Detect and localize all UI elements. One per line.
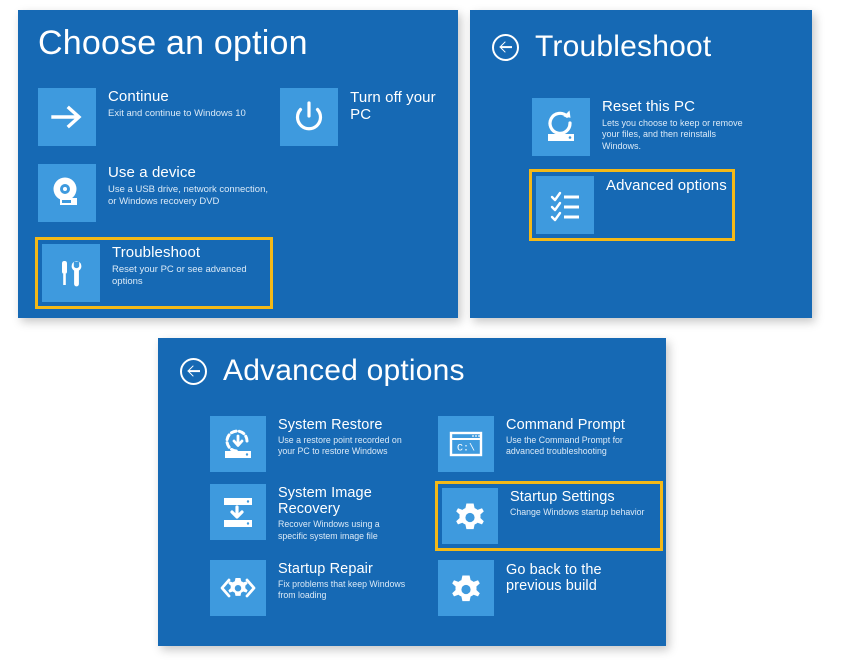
reset-pc-icon: [532, 98, 590, 156]
grid-cell: Startup Repair Fix problems that keep Wi…: [210, 560, 432, 616]
option-description: Reset your PC or see advanced options: [112, 264, 266, 288]
option-title: Command Prompt: [506, 417, 636, 433]
option-title: System Restore: [278, 417, 408, 433]
option-advanced-options[interactable]: Advanced options: [532, 172, 732, 238]
grid-cell: System Restore Use a restore point recor…: [210, 416, 432, 472]
option-text: Continue Exit and continue to Windows 10: [96, 88, 246, 120]
option-description: Use a restore point recorded on your PC …: [278, 435, 408, 458]
option-text: Startup Repair Fix problems that keep Wi…: [266, 560, 408, 602]
panel-advanced-options: Advanced options: [158, 338, 666, 646]
system-restore-icon: [210, 416, 266, 472]
option-text: Advanced options: [594, 176, 727, 195]
option-text: Use a device Use a USB drive, network co…: [96, 164, 268, 208]
option-reset-this-pc[interactable]: Reset this PC Lets you choose to keep or…: [532, 98, 802, 156]
options-list: Reset this PC Lets you choose to keep or…: [532, 98, 802, 238]
option-title: Turn off your PC: [350, 90, 458, 124]
option-command-prompt[interactable]: C:\ Command Prompt Use the Command Promp…: [438, 416, 660, 472]
option-system-image-recovery[interactable]: System Image Recovery Recover Windows us…: [210, 484, 432, 542]
option-startup-settings[interactable]: Startup Settings Change Windows startup …: [438, 484, 660, 548]
option-description-line2: or Windows recovery DVD: [108, 196, 268, 208]
startup-repair-icon: [210, 560, 266, 616]
grid-cell: Startup Settings Change Windows startup …: [438, 484, 660, 548]
option-title: Troubleshoot: [112, 245, 266, 262]
option-text: System Restore Use a restore point recor…: [266, 416, 408, 458]
option-text: Reset this PC Lets you choose to keep or…: [590, 98, 754, 152]
option-description: Change Windows startup behavior: [510, 507, 660, 518]
option-title: Advanced options: [606, 178, 727, 195]
option-go-back-previous-build[interactable]: Go back to the previous build: [438, 560, 660, 616]
system-image-icon: [210, 484, 266, 540]
options-row: Continue Exit and continue to Windows 10…: [38, 88, 458, 146]
option-description: Use the Command Prompt for advanced trou…: [506, 435, 636, 458]
tools-icon: [42, 244, 100, 302]
option-description: Fix problems that keep Windows from load…: [278, 579, 408, 602]
option-title: Reset this PC: [602, 99, 754, 116]
option-text: Troubleshoot Reset your PC or see advanc…: [100, 244, 266, 288]
grid-cell: System Image Recovery Recover Windows us…: [210, 484, 432, 548]
option-continue[interactable]: Continue Exit and continue to Windows 10: [38, 88, 266, 146]
back-arrow-icon[interactable]: [492, 34, 519, 61]
page-title: Advanced options: [223, 356, 465, 386]
option-description-line1: Use a USB drive, network connection,: [108, 184, 268, 196]
option-description: Lets you choose to keep or remove your f…: [602, 118, 754, 153]
option-use-a-device[interactable]: Use a device Use a USB drive, network co…: [38, 164, 458, 222]
option-turn-off-your-pc[interactable]: Turn off your PC: [280, 88, 458, 146]
option-text: Go back to the previous build: [494, 560, 626, 594]
option-text: Turn off your PC: [338, 88, 458, 124]
panel-troubleshoot: Troubleshoot Reset this PC Lets you choo…: [470, 10, 812, 318]
option-startup-repair[interactable]: Startup Repair Fix problems that keep Wi…: [210, 560, 432, 616]
checklist-icon: [536, 176, 594, 234]
page-title: Choose an option: [38, 26, 308, 60]
option-title: System Image Recovery: [278, 485, 432, 517]
option-title: Startup Settings: [510, 489, 660, 505]
gear-icon: [438, 560, 494, 616]
gear-icon: [442, 488, 498, 544]
disc-usb-icon: [38, 164, 96, 222]
panel-header: Choose an option: [18, 10, 458, 60]
option-system-restore[interactable]: System Restore Use a restore point recor…: [210, 416, 432, 472]
screenshot-stage: Choose an option Continue Exit and conti…: [0, 0, 844, 665]
grid-cell: C:\ Command Prompt Use the Command Promp…: [438, 416, 660, 472]
option-troubleshoot[interactable]: Troubleshoot Reset your PC or see advanc…: [38, 240, 270, 306]
option-text: Startup Settings Change Windows startup …: [498, 488, 660, 518]
option-title: Startup Repair: [278, 561, 408, 577]
options-list: System Restore Use a restore point recor…: [210, 416, 660, 628]
option-text: Command Prompt Use the Command Prompt fo…: [494, 416, 636, 458]
options-grid: System Restore Use a restore point recor…: [210, 416, 660, 628]
panel-choose-an-option: Choose an option Continue Exit and conti…: [18, 10, 458, 318]
option-title: Go back to the previous build: [506, 562, 626, 594]
svg-text:C:\: C:\: [457, 443, 475, 455]
option-text: System Image Recovery Recover Windows us…: [266, 484, 432, 542]
command-prompt-icon: C:\: [438, 416, 494, 472]
options-list: Continue Exit and continue to Windows 10…: [38, 88, 458, 306]
panel-header: Advanced options: [158, 338, 666, 386]
panel-header: Troubleshoot: [470, 10, 812, 62]
option-title: Use a device: [108, 165, 268, 182]
option-description: Recover Windows using a specific system …: [278, 519, 408, 542]
option-description: Exit and continue to Windows 10: [108, 108, 246, 120]
page-title: Troubleshoot: [535, 32, 711, 62]
power-icon: [280, 88, 338, 146]
grid-cell: Go back to the previous build: [438, 560, 660, 616]
option-title: Continue: [108, 89, 246, 106]
back-arrow-icon[interactable]: [180, 358, 207, 385]
arrow-right-icon: [38, 88, 96, 146]
